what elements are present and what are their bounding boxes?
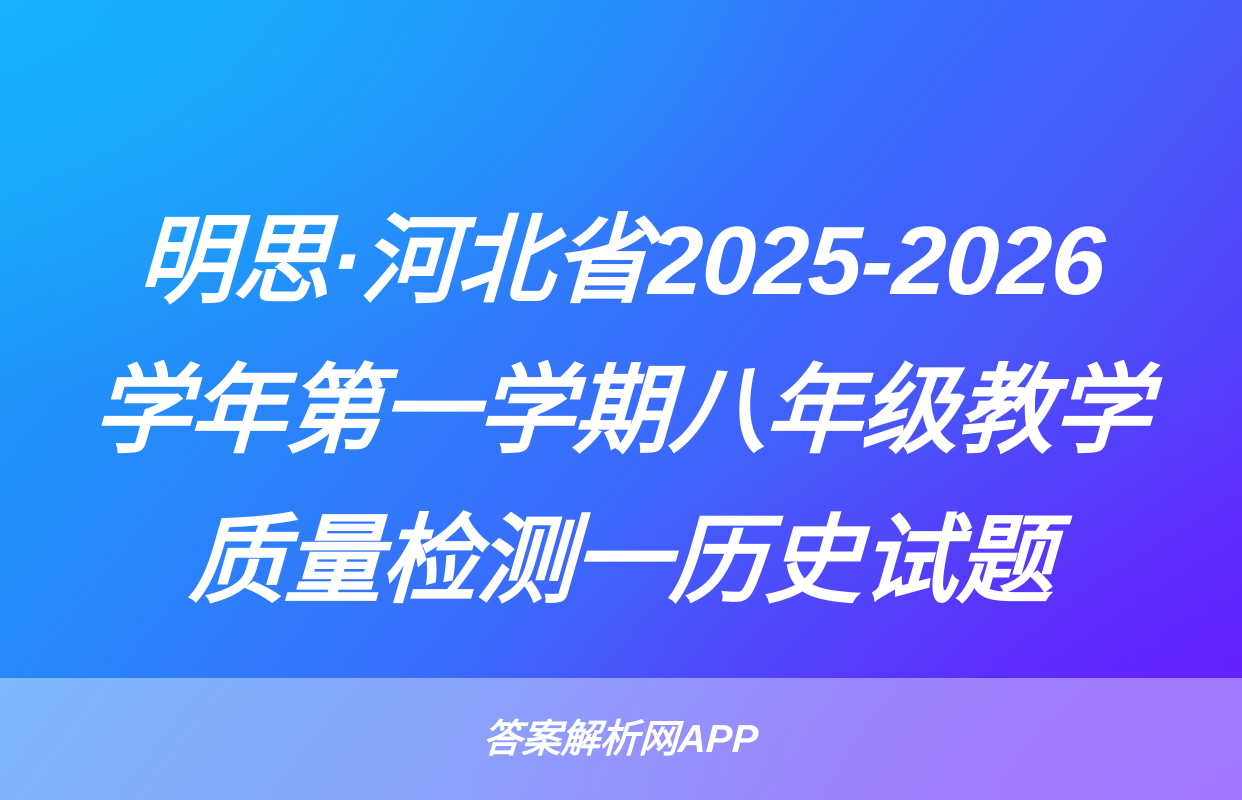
title-line-2: 学年第一学期八年级教学 (11, 336, 1230, 486)
page-title: 明思·河北省2025-2026 学年第一学期八年级教学 质量检测一历史试题 (0, 186, 1242, 636)
app-watermark-label: 答案解析网APP (482, 720, 759, 759)
title-line-1: 明思·河北省2025-2026 (11, 186, 1230, 336)
watermark-band: 答案解析网APP (0, 678, 1242, 800)
exam-cover-poster: 明思·河北省2025-2026 学年第一学期八年级教学 质量检测一历史试题 答案… (0, 0, 1242, 800)
title-line-3: 质量检测一历史试题 (11, 486, 1230, 636)
